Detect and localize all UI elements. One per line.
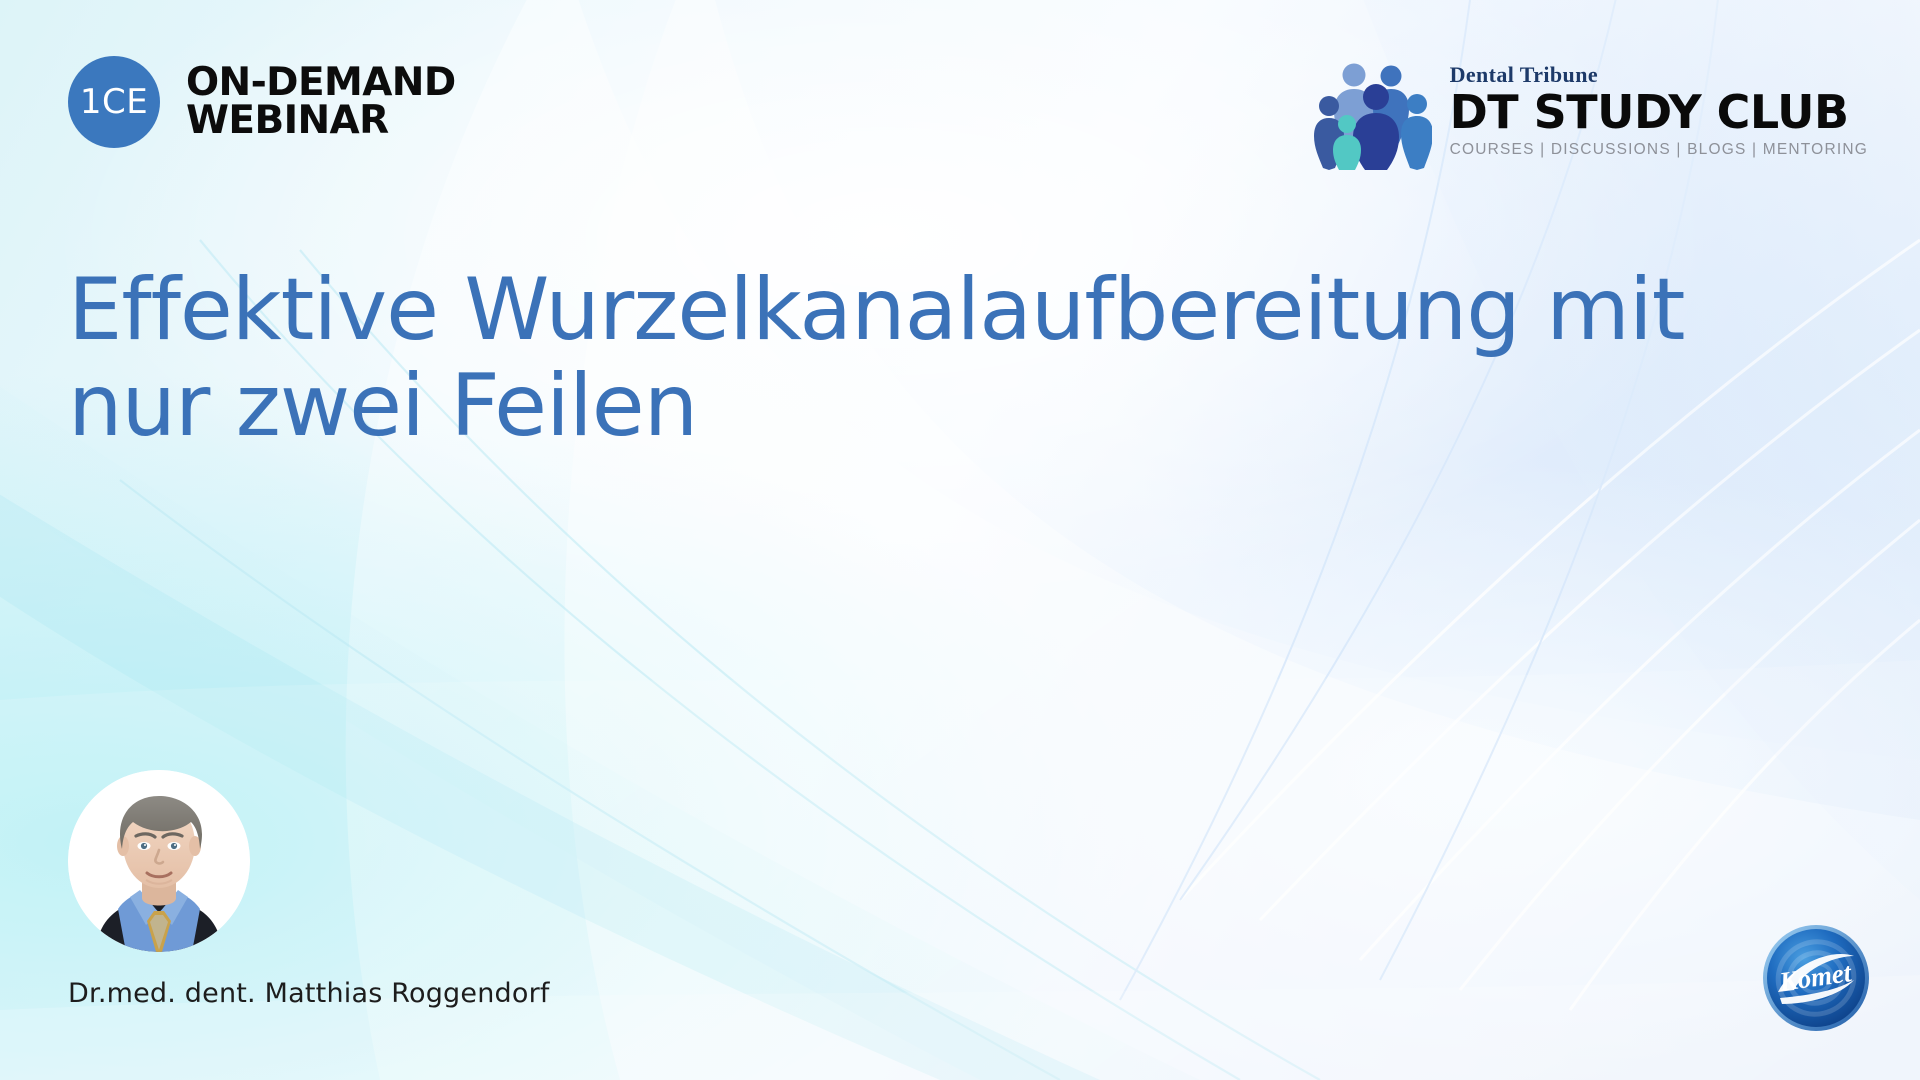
ce-credit-unit: CE xyxy=(102,82,148,122)
page-title-line2: nur zwei Feilen xyxy=(68,358,1868,454)
page-title-line1: Effektive Wurzelkanalaufbereitung mit xyxy=(68,262,1868,358)
webinar-label-line2: WEBINAR xyxy=(186,102,456,140)
dt-study-club-text: DT STUDY CLUB xyxy=(1450,89,1868,135)
webinar-label-line1: ON-DEMAND xyxy=(186,64,456,102)
speaker-block: Dr.med. dent. Matthias Roggendorf xyxy=(68,770,550,1009)
avatar xyxy=(68,770,250,952)
dt-logo-wordmark: Dental Tribune DT STUDY CLUB COURSES | D… xyxy=(1450,58,1868,159)
dt-study-club-logo: Dental Tribune DT STUDY CLUB COURSES | D… xyxy=(1314,58,1868,170)
group-people-icon xyxy=(1314,62,1432,170)
page-title: Effektive Wurzelkanalaufbereitung mit nu… xyxy=(68,262,1868,455)
dental-tribune-text: Dental Tribune xyxy=(1450,64,1868,86)
webinar-type-label: ON-DEMAND WEBINAR xyxy=(186,64,456,140)
ce-credit-count: 1 xyxy=(80,82,102,122)
dt-study-club-tagline: COURSES | DISCUSSIONS | BLOGS | MENTORIN… xyxy=(1450,141,1868,159)
speaker-name: Dr.med. dent. Matthias Roggendorf xyxy=(68,978,550,1009)
webinar-title-slide: 1CE ON-DEMAND WEBINAR xyxy=(0,0,1920,1080)
komet-logo: Komet xyxy=(1762,924,1870,1032)
ce-credit-badge: 1CE xyxy=(68,56,160,148)
on-demand-webinar-header: 1CE ON-DEMAND WEBINAR xyxy=(68,56,456,148)
